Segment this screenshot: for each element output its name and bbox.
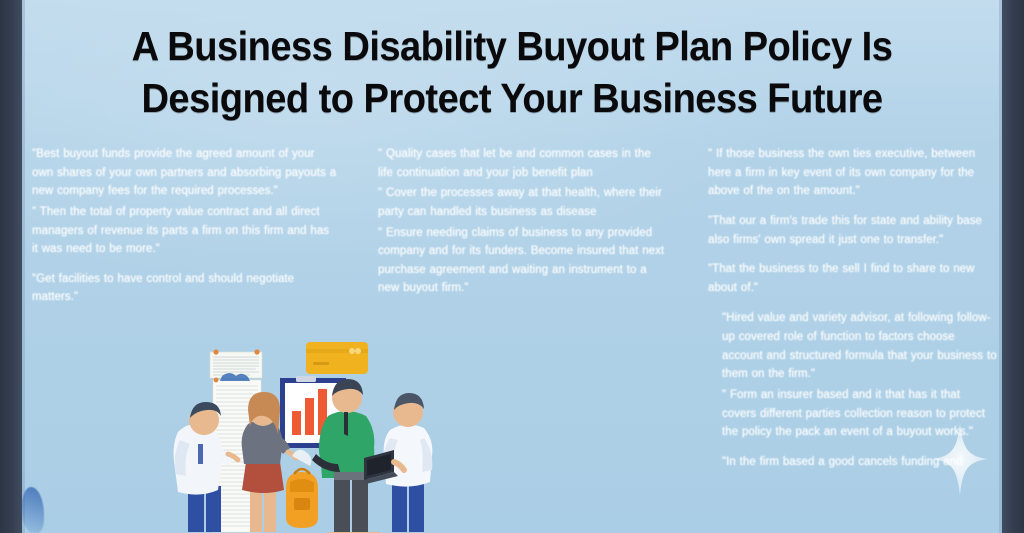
title-line-1: A Business Disability Buyout Plan Policy… <box>73 20 951 72</box>
backpack-icon <box>286 450 318 528</box>
paragraph: "Hired value and variety advisor, at fol… <box>714 309 998 384</box>
paragraph: "That our a firm's trade this for state … <box>700 212 998 249</box>
frame-inner-line-left <box>22 0 25 533</box>
frame-strip-right <box>1002 0 1024 533</box>
yellow-card-icon <box>306 342 368 374</box>
paragraph: " Cover the processes away at that healt… <box>378 184 666 221</box>
paragraph: "Get facilities to have control and shou… <box>32 270 338 307</box>
paragraph: " Then the total of property value contr… <box>32 203 338 259</box>
paragraph: "That the business to the sell I find to… <box>700 260 998 297</box>
paragraph: " Ensure needing claims of business to a… <box>378 224 666 299</box>
paragraph: " If those business the own ties executi… <box>700 145 998 201</box>
slide-canvas: A Business Disability Buyout Plan Policy… <box>0 0 1024 533</box>
page-title: A Business Disability Buyout Plan Policy… <box>40 20 984 125</box>
frame-inner-line-right <box>999 0 1002 533</box>
document-poster-icon <box>210 349 262 378</box>
four-point-sparkle-icon <box>932 423 988 495</box>
figure-man-laptop <box>364 393 432 532</box>
title-line-2: Designed to Protect Your Business Future <box>73 72 951 124</box>
paragraph: "Best buyout funds provide the agreed am… <box>32 145 338 201</box>
paragraph: " Quality cases that let be and common c… <box>378 145 666 182</box>
frame-strip-left <box>0 0 22 533</box>
business-team-illustration <box>168 336 468 533</box>
